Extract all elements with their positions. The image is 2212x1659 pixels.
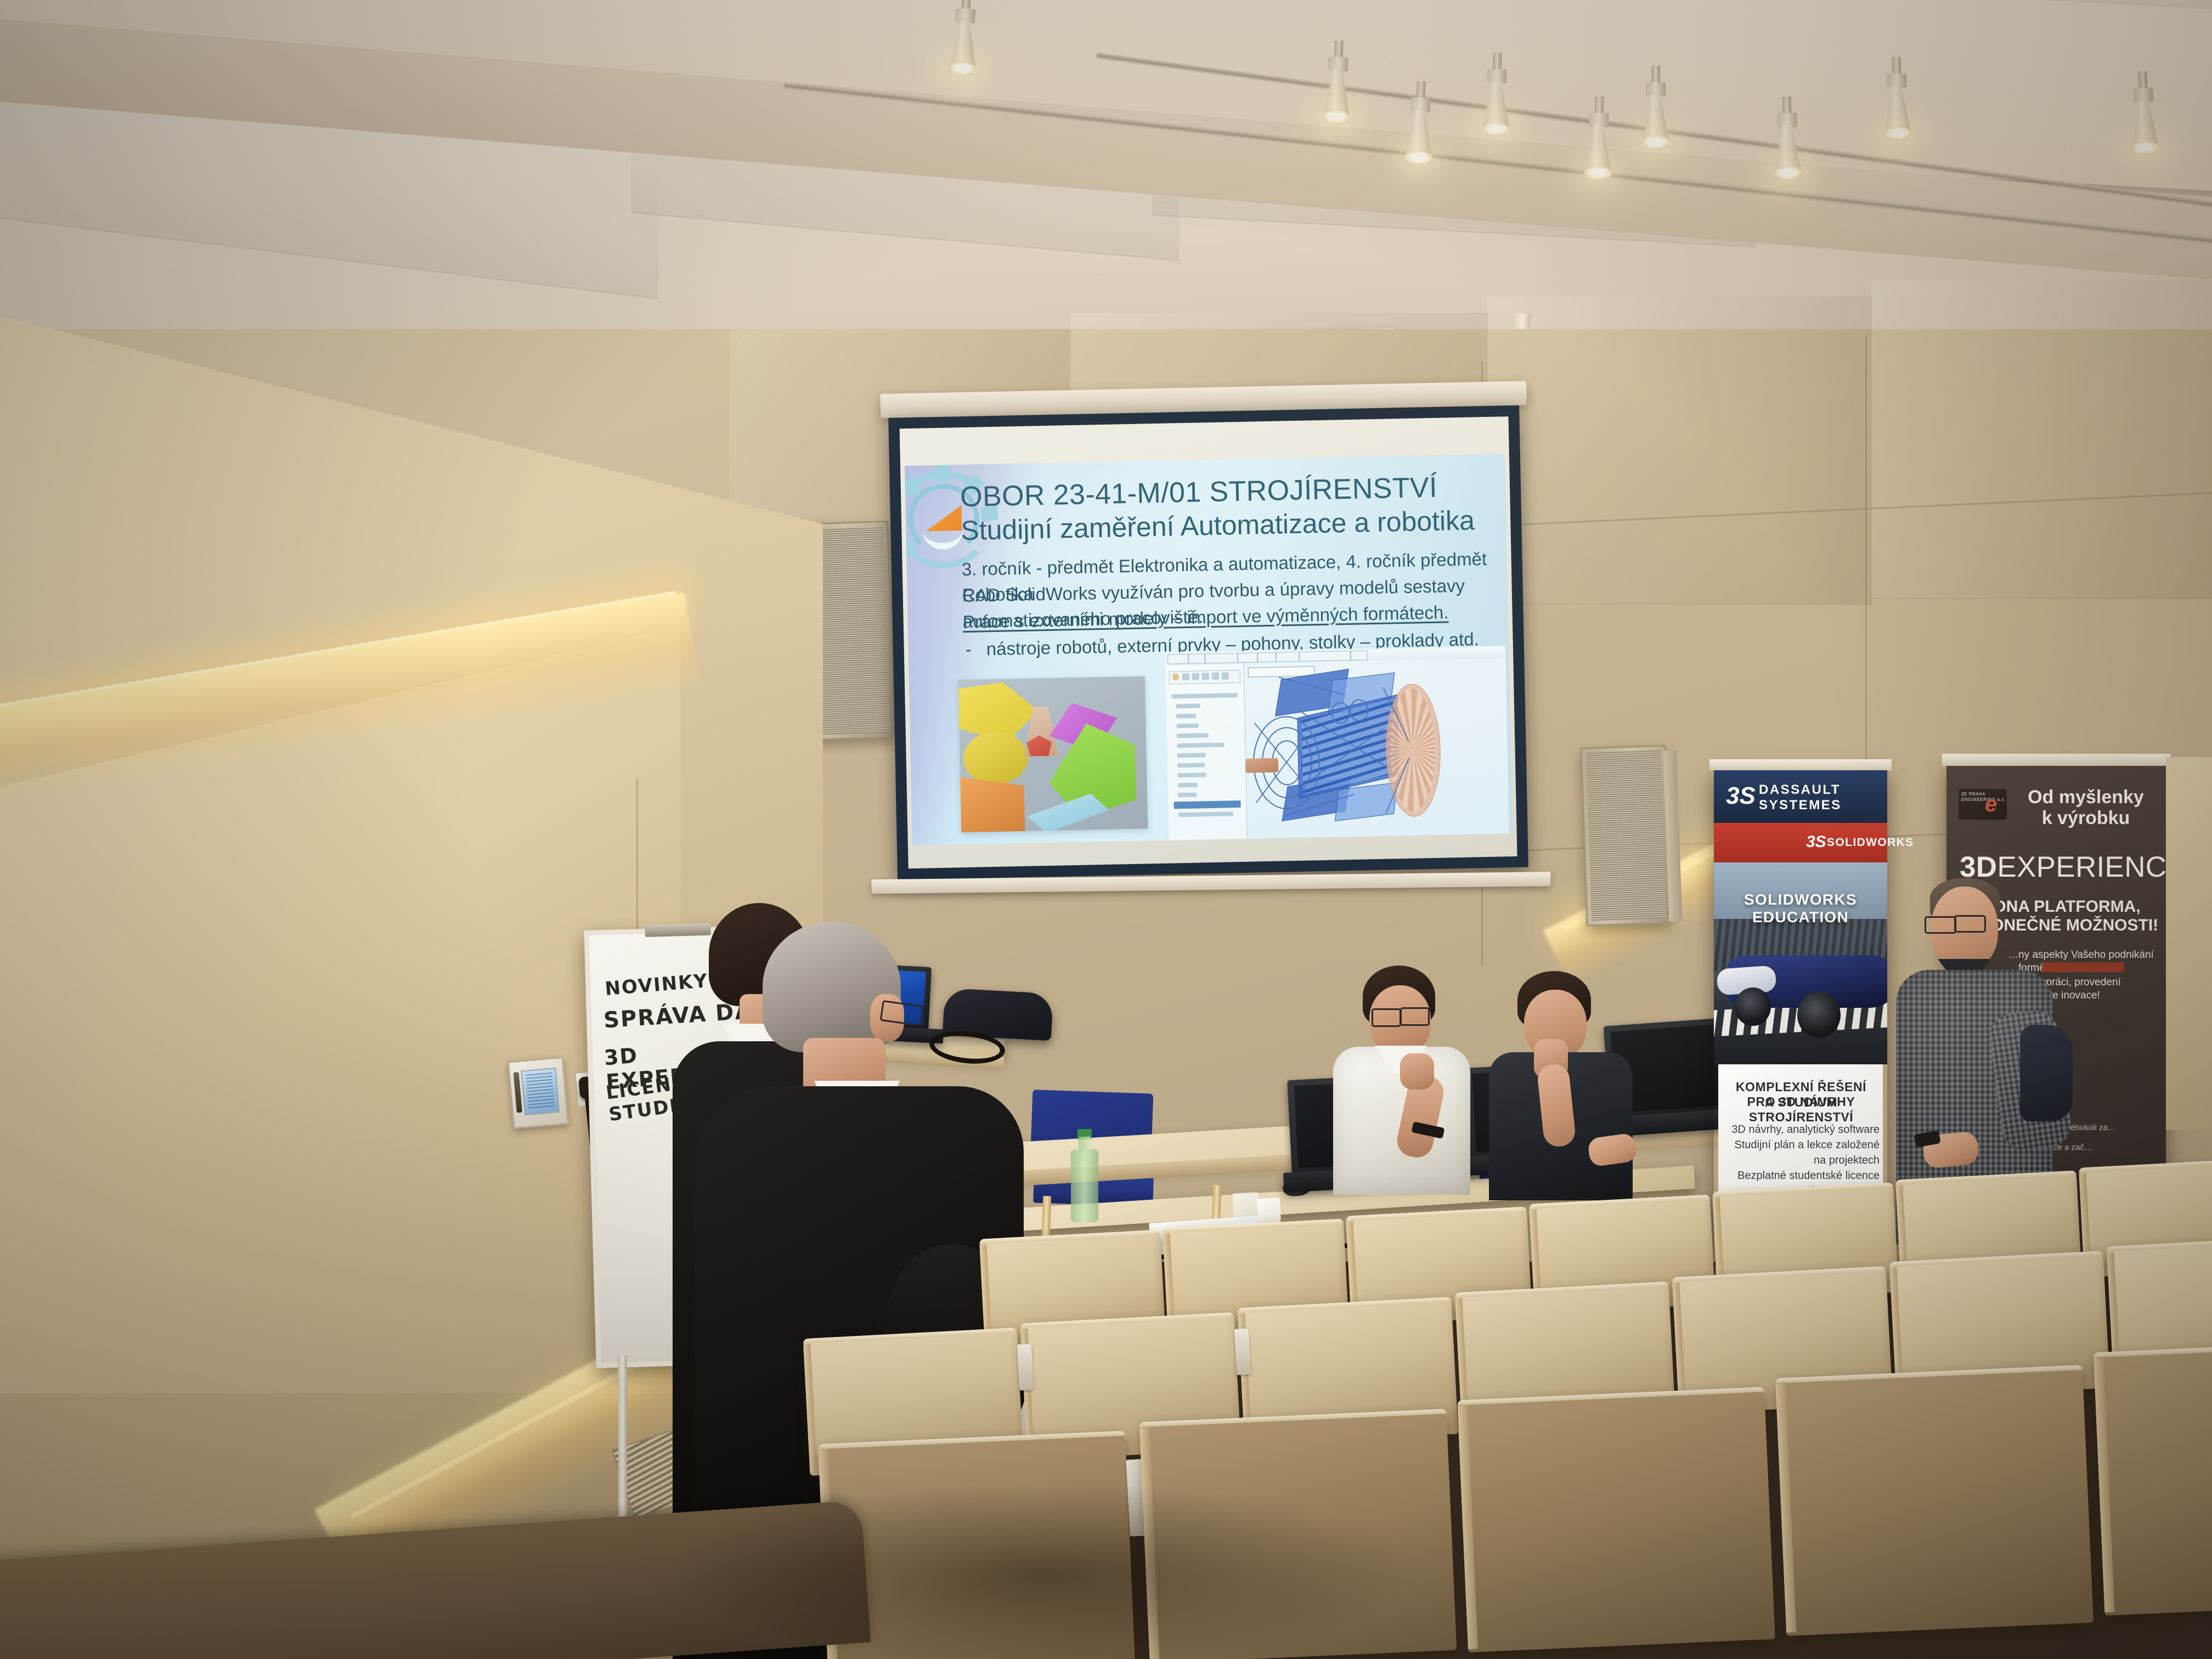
auditorium-seat-front[interactable] — [1775, 1365, 2093, 1636]
flipchart-leg — [618, 1355, 628, 1536]
floor-shadow — [658, 1481, 1426, 1659]
coffee-cup[interactable] — [1257, 1198, 1281, 1225]
track-spotlight — [947, 0, 982, 75]
slide-image-robot-assembly — [958, 676, 1148, 832]
banner-red-band: 3S SOLIDWORKS — [1714, 823, 1887, 862]
dassault-brand-line-2: SYSTEMES — [1759, 799, 1842, 812]
panel-lcd-screen[interactable] — [521, 1068, 560, 1115]
banner-tagline-line-2: k výrobku — [2012, 808, 2159, 828]
wall-speaker-right — [1580, 744, 1672, 926]
wall-control-panel[interactable] — [507, 1057, 569, 1129]
lecture-hall-photo: OBOR 23-41-M/01 STROJÍRENSTVÍ Studijní z… — [0, 0, 2212, 1659]
dassault-brand-line-1: DASSAULT — [1759, 783, 1841, 797]
auditorium-seat-front[interactable] — [1457, 1387, 1775, 1652]
banner-bullet: 3D návrhy, analytický software — [1722, 1122, 1880, 1137]
banner-race-car-photo: SOLIDWORKS EDUCATION — [1714, 862, 1887, 1064]
track-spotlight — [1881, 57, 1914, 140]
attendee-white-shirt — [1317, 966, 1481, 1196]
solidworks-wordmark: SOLIDWORKS — [1827, 836, 1914, 849]
panel-side-bar — [513, 1072, 522, 1113]
attendee-dark-jacket — [1481, 971, 1646, 1201]
banner-navy-band: 3S DASSAULT SYSTEMES — [1714, 770, 1887, 823]
hand-on-chin — [1400, 1053, 1434, 1090]
screen-frame: OBOR 23-41-M/01 STROJÍRENSTVÍ Studijní z… — [888, 405, 1528, 880]
seat-hinge — [1017, 1344, 1034, 1390]
track-spotlight — [1481, 53, 1513, 136]
track-spotlight — [1583, 97, 1615, 179]
banner-top-rail — [1709, 759, 1892, 770]
projection-screen-assembly: OBOR 23-41-M/01 STROJÍRENSTVÍ Studijní z… — [873, 388, 1553, 917]
solidworks-3ds-mark: 3S — [1806, 833, 1826, 851]
track-spotlight — [2127, 71, 2160, 154]
eyeglasses[interactable] — [1400, 1007, 1430, 1026]
bag-strap-behind — [2020, 1025, 2073, 1121]
logo-text-top: 3E PRAHA — [1961, 792, 1985, 797]
track-spotlight — [1640, 66, 1671, 148]
logo-text-sub: ENGINEERING a.s. — [1961, 797, 2006, 802]
banner-bullet: na projektech — [1722, 1153, 1880, 1167]
auditorium-seat-front[interactable] — [2093, 1342, 2212, 1616]
banner-top-rail — [1942, 754, 2170, 766]
banner-bullet: Bezplatné studentské licence — [1722, 1169, 1880, 1183]
track-spotlight — [1771, 97, 1804, 179]
logo-mark-e: e — [1985, 792, 1997, 817]
seat-hinge — [1234, 1328, 1251, 1375]
banner-tagline-line-1: Od myšlenky — [2012, 787, 2159, 808]
screen-surface: OBOR 23-41-M/01 STROJÍRENSTVÍ Studijní z… — [900, 416, 1517, 868]
water-glass[interactable] — [1233, 1192, 1260, 1224]
banner-headline: SOLIDWORKS EDUCATION — [1720, 891, 1881, 926]
banner-bullet: Studijní plán a lekce založené — [1722, 1138, 1880, 1152]
banner-subhead-line-2: A STUDIUM STROJÍRENSTVÍ — [1723, 1095, 1880, 1124]
eyeglasses[interactable] — [1372, 1008, 1401, 1027]
eyeglasses[interactable] — [1925, 916, 1956, 934]
praha-engineering-logo: 3E PRAHA ENGINEERING a.s. e — [1959, 789, 2007, 820]
dassault-3ds-logo-mark: 3S — [1726, 781, 1757, 812]
slide-bullet-dash: - — [965, 637, 972, 663]
track-spotlight — [1403, 81, 1436, 164]
track-spotlight — [1321, 40, 1354, 123]
eyeglasses[interactable] — [1954, 915, 1986, 933]
slide-image-solidworks-motor — [1165, 646, 1509, 840]
projected-slide: OBOR 23-41-M/01 STROJÍRENSTVÍ Studijní z… — [905, 454, 1513, 845]
wall-strip-far-right — [2166, 757, 2212, 1130]
